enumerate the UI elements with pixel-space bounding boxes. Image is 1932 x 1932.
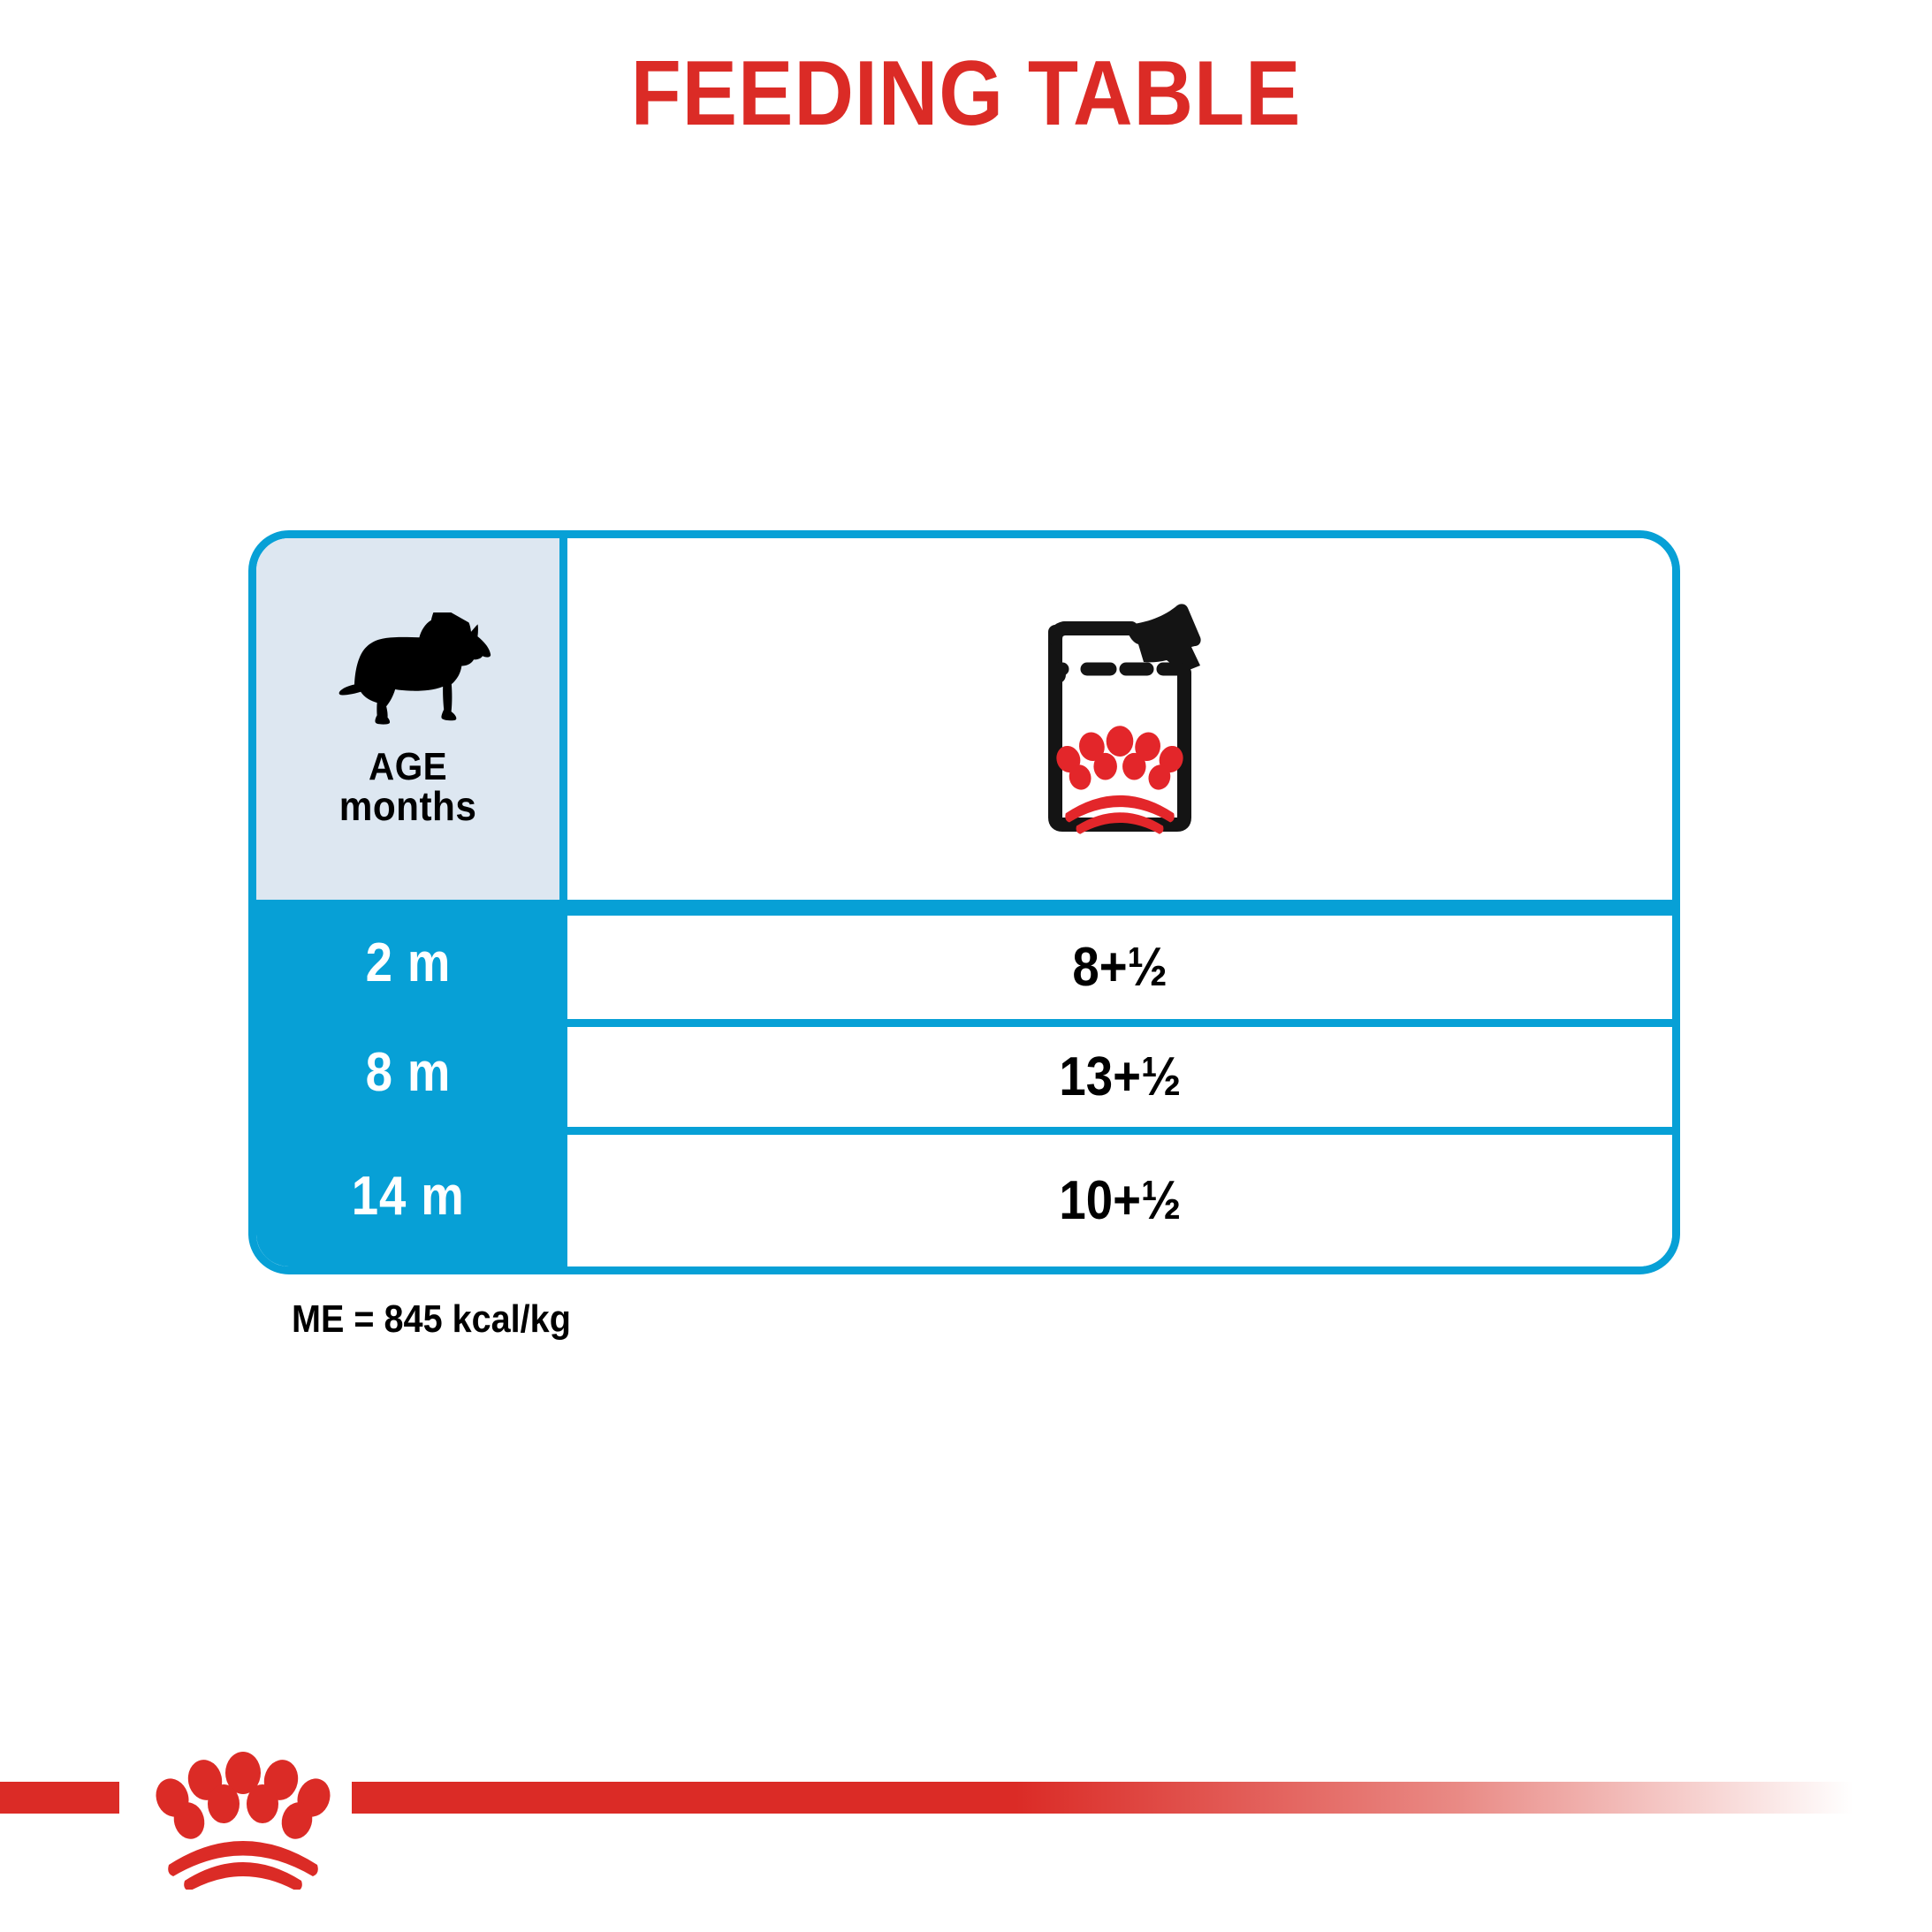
table-header-row: AGE months	[256, 538, 1672, 908]
row-portion-label: 8+½	[1072, 940, 1168, 995]
footer-bar-right	[352, 1782, 1932, 1814]
footer	[0, 1729, 1932, 1932]
dog-silhouette-icon	[320, 612, 497, 733]
row-portion-cell: 13+½	[567, 1019, 1672, 1127]
page-title: FEEDING TABLE	[96, 46, 1835, 142]
footer-bar-left	[0, 1782, 119, 1814]
row-age-label: 2 m	[365, 936, 451, 991]
royal-canin-crown-logo	[133, 1730, 354, 1890]
food-pouch-icon	[1027, 591, 1213, 848]
feeding-table: AGE months	[248, 530, 1680, 1274]
row-portion-cell: 10+½	[567, 1127, 1672, 1266]
row-age-label: 14 m	[352, 1169, 465, 1224]
table-row: 14 m 10+½	[256, 1127, 1672, 1266]
header-age-line2: months	[339, 787, 477, 825]
row-age-cell: 8 m	[256, 1019, 567, 1127]
header-cell-portion	[567, 538, 1672, 900]
table-row: 8 m 13+½	[256, 1019, 1672, 1127]
row-portion-cell: 8+½	[567, 908, 1672, 1019]
row-portion-label: 13+½	[1059, 1050, 1181, 1105]
row-age-cell: 14 m	[256, 1127, 567, 1266]
header-age-line1: AGE	[339, 749, 477, 786]
row-age-cell: 2 m	[256, 908, 567, 1019]
header-cell-age: AGE months	[256, 538, 567, 900]
header-age-label: AGE months	[339, 749, 477, 825]
row-age-label: 8 m	[365, 1046, 451, 1100]
table-row: 2 m 8+½	[256, 908, 1672, 1019]
metabolizable-energy-note: ME = 845 kcal/kg	[292, 1297, 571, 1342]
row-portion-label: 10+½	[1059, 1174, 1181, 1228]
